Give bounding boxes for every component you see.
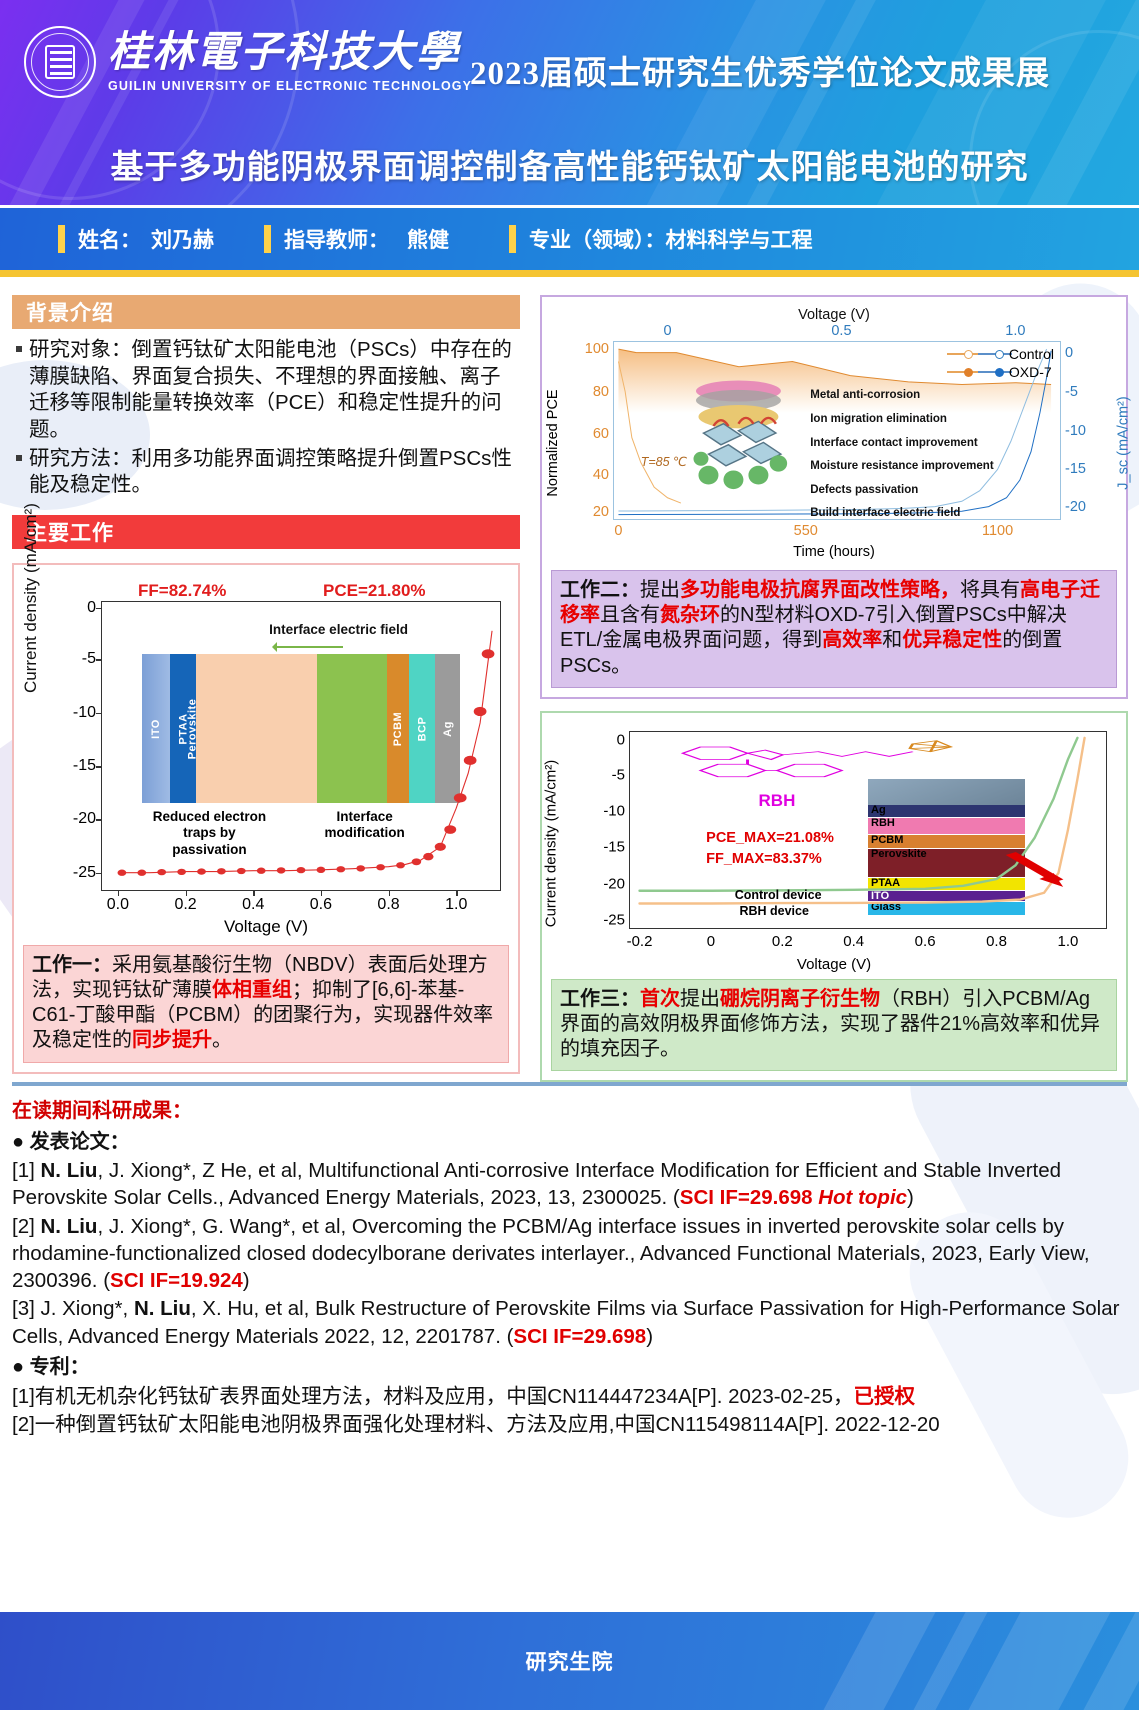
chart2-feature: Build interface electric field — [810, 502, 993, 526]
chart3-y-tick: -10 — [603, 803, 625, 820]
legend-item-oxd7: OXD-7 — [947, 364, 1054, 380]
author-meta-bar: 姓名： 刘乃赫 指导教师： 熊健 专业（领域）： 材料科学与工程 — [0, 208, 1139, 270]
chart3-x-tick: -0.2 — [627, 933, 653, 950]
work2-text-1: 提出 — [640, 579, 680, 601]
chart3-curves — [630, 732, 1106, 928]
ref-prefix: [3] J. Xiong*, — [12, 1297, 134, 1320]
chart2-feature: Interface contact improvement — [810, 432, 993, 456]
chart2-y-tick-left: 100 — [585, 341, 609, 357]
meta-name-value: 刘乃赫 — [151, 224, 214, 254]
chart2-y-tick-right: -10 — [1065, 423, 1086, 439]
work2-highlight-1: 多功能电极抗腐界面改性策略， — [680, 579, 960, 601]
chart1-y-tick: -20 — [73, 810, 96, 828]
work1-highlight-1: 体相重组 — [212, 979, 292, 1001]
right-column: Voltage (V) Normalized PCE J_sc (mA/cm²)… — [540, 295, 1128, 1082]
meta-advisor-value: 熊健 — [407, 224, 449, 254]
reference-item: [1] N. Liu, J. Xiong*, Z He, et al, Mult… — [12, 1157, 1127, 1212]
chart2-y-tick-left: 60 — [593, 426, 609, 442]
published-papers-heading: ● 发表论文： — [12, 1129, 1127, 1156]
ref-tail: ) — [243, 1269, 250, 1292]
legend-item-control: Control — [947, 346, 1054, 362]
work2-text-2: 将具有 — [960, 579, 1020, 601]
work2-highlight-5: 优异稳定性 — [902, 629, 1002, 651]
legend-label: OXD-7 — [1009, 364, 1052, 380]
chart1-x-axis-label: Voltage (V) — [23, 917, 509, 937]
meta-name: 姓名： 刘乃赫 — [58, 224, 214, 254]
chart3-y-tick: -25 — [603, 911, 625, 928]
ref-sci-if: SCI IF=29.698 — [680, 1186, 813, 1209]
chart1-x-tick: 0.2 — [174, 896, 196, 914]
work3-caption: 工作三：首次提出硼烷阴离子衍生物（RBH）引入PCBM/Ag界面的高效阴极界面修… — [551, 979, 1117, 1072]
university-seal-icon — [24, 26, 96, 98]
chart2-y-tick-right: -5 — [1065, 384, 1078, 400]
work1-highlight-2: 同步提升 — [132, 1029, 212, 1051]
results-separator — [12, 1082, 1127, 1086]
chart3-y-tick: -15 — [603, 839, 625, 856]
chart2-x-axis-label: Time (hours) — [551, 544, 1117, 560]
chart3-x-tick: 0 — [707, 933, 715, 950]
chart1-y-tick: -15 — [73, 757, 96, 775]
ref-prefix: [2] — [12, 1215, 41, 1238]
ref-sci-if: SCI IF=19.924 — [110, 1269, 243, 1292]
work1-caption: 工作一：采用氨基酸衍生物（NBDV）表面后处理方法，实现钙钛矿薄膜体相重组；抑制… — [23, 945, 509, 1063]
chart1-y-tick: -25 — [73, 864, 96, 882]
list-item: 研究方法：利用多功能界面调控策略提升倒置PSCs性能及稳定性。 — [16, 446, 520, 499]
legend-label: Control — [1009, 346, 1054, 362]
chart1-y-axis-label: Current density (mA/cm²) — [21, 503, 41, 693]
patent-text: [2]一种倒置钙钛矿太阳能电池阴极界面强化处理材料、方法及应用,中国CN1154… — [12, 1413, 940, 1436]
chart2-y-tick-left: 40 — [593, 467, 609, 483]
work2-text-3: 且含有 — [600, 604, 660, 626]
header-yellow-rule — [0, 270, 1139, 277]
ref-sci-if: SCI IF=29.698 — [513, 1325, 646, 1348]
chart3-x-tick: 0.4 — [843, 933, 864, 950]
ref-hot-topic: Hot topic — [813, 1186, 908, 1209]
meta-advisor: 指导教师： 熊健 — [264, 224, 449, 254]
chart2-y-tick-left: 20 — [593, 504, 609, 520]
chart3-x-tick: 0.8 — [986, 933, 1007, 950]
chart2-y-tick-left: 80 — [593, 384, 609, 400]
chart3-y-tick: -5 — [612, 766, 625, 783]
chart1-ff-annotation: FF=82.74% — [138, 581, 226, 601]
work2-figure-card: Voltage (V) Normalized PCE J_sc (mA/cm²)… — [540, 295, 1128, 699]
work1-label: 工作一： — [32, 954, 112, 976]
chart3-legend-rbh: RBH device — [739, 904, 808, 918]
patent-text: [1]有机无机杂化钙钛矿表界面处理方法，材料及应用，中国CN114447234A… — [12, 1385, 853, 1408]
university-logo: 桂林電子科技大學 GUILIN UNIVERSITY OF ELECTRONIC… — [24, 26, 472, 98]
chart3-legend-control: Control device — [735, 888, 822, 902]
ref-prefix: [1] — [12, 1159, 41, 1182]
square-bullet-icon — [16, 446, 29, 499]
ref-author: N. Liu — [134, 1297, 191, 1320]
chart2-y-axis-label-left: Normalized PCE — [545, 389, 561, 496]
poster-footer: 研究生院 — [0, 1612, 1139, 1710]
ref-author: N. Liu — [41, 1215, 98, 1238]
chart2-y-tick-right: -15 — [1065, 461, 1086, 477]
expo-title: 2023届硕士研究生优秀学位论文成果展 — [470, 46, 1050, 94]
footer-decoration — [809, 1612, 1139, 1710]
ref-author: N. Liu — [41, 1159, 98, 1182]
results-section: 在读期间科研成果： ● 发表论文： [1] N. Liu, J. Xiong*,… — [12, 1098, 1127, 1439]
work1-figure-card: FF=82.74% PCE=21.80% Current density (mA… — [12, 563, 520, 1074]
chart2-x-tick: 0 — [614, 523, 622, 539]
work3-text-1: 提出 — [680, 988, 720, 1010]
meta-advisor-label: 指导教师： — [284, 224, 389, 254]
ref-tail: ) — [907, 1186, 914, 1209]
work2-label: 工作二： — [560, 579, 640, 601]
patent-item: [2]一种倒置钙钛矿太阳能电池阴极界面强化处理材料、方法及应用,中国CN1154… — [12, 1411, 1127, 1438]
chart1-plot-area: 0 -5 -10 -15 -20 -25 0.0 0.2 — [101, 601, 501, 891]
work1-text-3: 。 — [212, 1029, 232, 1051]
chart2-legend: Control OXD-7 — [947, 346, 1054, 382]
chart2-top-tick: 1.0 — [1005, 323, 1025, 339]
ref-tail: ) — [646, 1325, 653, 1348]
poster-header: 桂林電子科技大學 GUILIN UNIVERSITY OF ELECTRONIC… — [0, 0, 1139, 205]
chart2-feature: Moisture resistance improvement — [810, 455, 993, 479]
chart2-feature: Ion migration elimination — [810, 408, 993, 432]
chart1-x-tick: 0.4 — [242, 896, 264, 914]
work3-highlight-1: 首次 — [640, 988, 680, 1010]
chart3-x-tick: 1.0 — [1057, 933, 1078, 950]
meta-tick-icon — [58, 225, 65, 253]
results-heading: 在读期间科研成果： — [12, 1098, 1127, 1125]
chart3-y-tick: -20 — [603, 875, 625, 892]
chart-stability-work2: Voltage (V) Normalized PCE J_sc (mA/cm²)… — [551, 307, 1117, 562]
footer-text: 研究生院 — [526, 1646, 614, 1676]
chart-jv-work1: FF=82.74% PCE=21.80% Current density (mA… — [23, 575, 509, 935]
university-name-cn: 桂林電子科技大學 — [108, 31, 472, 75]
chart1-markers — [102, 602, 500, 890]
chart2-top-tick: 0.5 — [831, 323, 851, 339]
chart1-pce-annotation: PCE=21.80% — [323, 581, 426, 601]
work2-highlight-3: 氮杂环 — [660, 604, 720, 626]
chart2-y-tick-right: -20 — [1065, 499, 1086, 515]
meta-tick-icon — [264, 225, 271, 253]
university-name-en: GUILIN UNIVERSITY OF ELECTRONIC TECHNOLO… — [108, 79, 472, 93]
chart1-x-tick: 0.6 — [310, 896, 332, 914]
reference-item: [2] N. Liu, J. Xiong*, G. Wang*, et al, … — [12, 1213, 1127, 1295]
chart2-feature: Metal anti-corrosion — [810, 384, 993, 408]
patent-item: [1]有机无机杂化钙钛矿表界面处理方法，材料及应用，中国CN114447234A… — [12, 1383, 1127, 1410]
reference-item: [3] J. Xiong*, N. Liu, X. Hu, et al, Bul… — [12, 1295, 1127, 1350]
chart2-y-tick-right: 0 — [1065, 345, 1073, 361]
chart2-top-tick: 0 — [663, 323, 671, 339]
work2-highlight-4: 高效率 — [822, 629, 882, 651]
chart1-y-tick: -10 — [73, 704, 96, 722]
meta-major-value: 材料科学与工程 — [666, 224, 813, 254]
background-list: 研究对象：倒置钙钛矿太阳能电池（PSCs）中存在的薄膜缺陷、界面复合损失、不理想… — [12, 337, 520, 499]
chart2-feature: Defects passivation — [810, 479, 993, 503]
patent-status-badge: 已授权 — [853, 1385, 915, 1408]
page-title: 基于多功能阴极界面调控制备高性能钙钛矿太阳能电池的研究 — [0, 140, 1139, 188]
chart2-temperature-annotation: T=85 ℃ — [641, 454, 687, 469]
work2-text-5: 和 — [882, 629, 902, 651]
chart1-y-tick: 0 — [87, 599, 96, 617]
work3-highlight-2: 硼烷阴离子衍生物 — [720, 988, 880, 1010]
chart3-x-tick: 0.6 — [915, 933, 936, 950]
chart2-feature-list: Metal anti-corrosion Ion migration elimi… — [810, 384, 993, 525]
chart3-x-tick: 0.2 — [772, 933, 793, 950]
meta-name-label: 姓名： — [78, 224, 141, 254]
work3-label: 工作三： — [560, 988, 640, 1010]
meta-major-label: 专业（领域）： — [529, 224, 666, 254]
meta-major: 专业（领域）： 材料科学与工程 — [509, 224, 813, 254]
section-header-main-work: 主要工作 — [12, 515, 520, 549]
chart2-y-axis-label-right: J_sc (mA/cm²) — [1115, 396, 1131, 489]
background-item-text: 研究对象：倒置钙钛矿太阳能电池（PSCs）中存在的薄膜缺陷、界面复合损失、不理想… — [29, 337, 520, 444]
chart2-top-axis-label: Voltage (V) — [551, 307, 1117, 323]
chart2-plot-area: 0 0.5 1.0 100 80 60 40 20 0 -5 -10 -15 -… — [613, 341, 1061, 520]
patents-heading: ● 专利： — [12, 1354, 1127, 1381]
chart1-y-tick: -5 — [82, 650, 96, 668]
square-bullet-icon — [16, 337, 29, 444]
meta-tick-icon — [509, 225, 516, 253]
chart3-y-tick: 0 — [617, 731, 625, 748]
chart1-x-tick: 0.0 — [107, 896, 129, 914]
left-column: 背景介绍 研究对象：倒置钙钛矿太阳能电池（PSCs）中存在的薄膜缺陷、界面复合损… — [12, 295, 520, 1074]
chart-jv-work3: Current density (mA/cm²) Voltage (V) 0 -… — [551, 723, 1117, 973]
section-header-background: 背景介绍 — [12, 295, 520, 329]
background-item-text: 研究方法：利用多功能界面调控策略提升倒置PSCs性能及稳定性。 — [29, 446, 520, 499]
chart1-x-tick: 1.0 — [445, 896, 467, 914]
chart1-x-tick: 0.8 — [377, 896, 399, 914]
chart3-plot-area: 0 -5 -10 -15 -20 -25 -0.2 0 0.2 0.4 0.6 … — [629, 731, 1107, 929]
list-item: 研究对象：倒置钙钛矿太阳能电池（PSCs）中存在的薄膜缺陷、界面复合损失、不理想… — [16, 337, 520, 444]
chart3-red-arrow-icon — [1011, 853, 1063, 886]
work2-caption: 工作二：提出多功能电极抗腐界面改性策略，将具有高电子迁移率且含有氮杂环的N型材料… — [551, 570, 1117, 688]
chart2-perovskite-illustration — [676, 377, 801, 494]
chart3-x-axis-label: Voltage (V) — [551, 956, 1117, 973]
chart3-y-axis-label: Current density (mA/cm²) — [543, 759, 560, 927]
work3-figure-card: Current density (mA/cm²) Voltage (V) 0 -… — [540, 711, 1128, 1083]
